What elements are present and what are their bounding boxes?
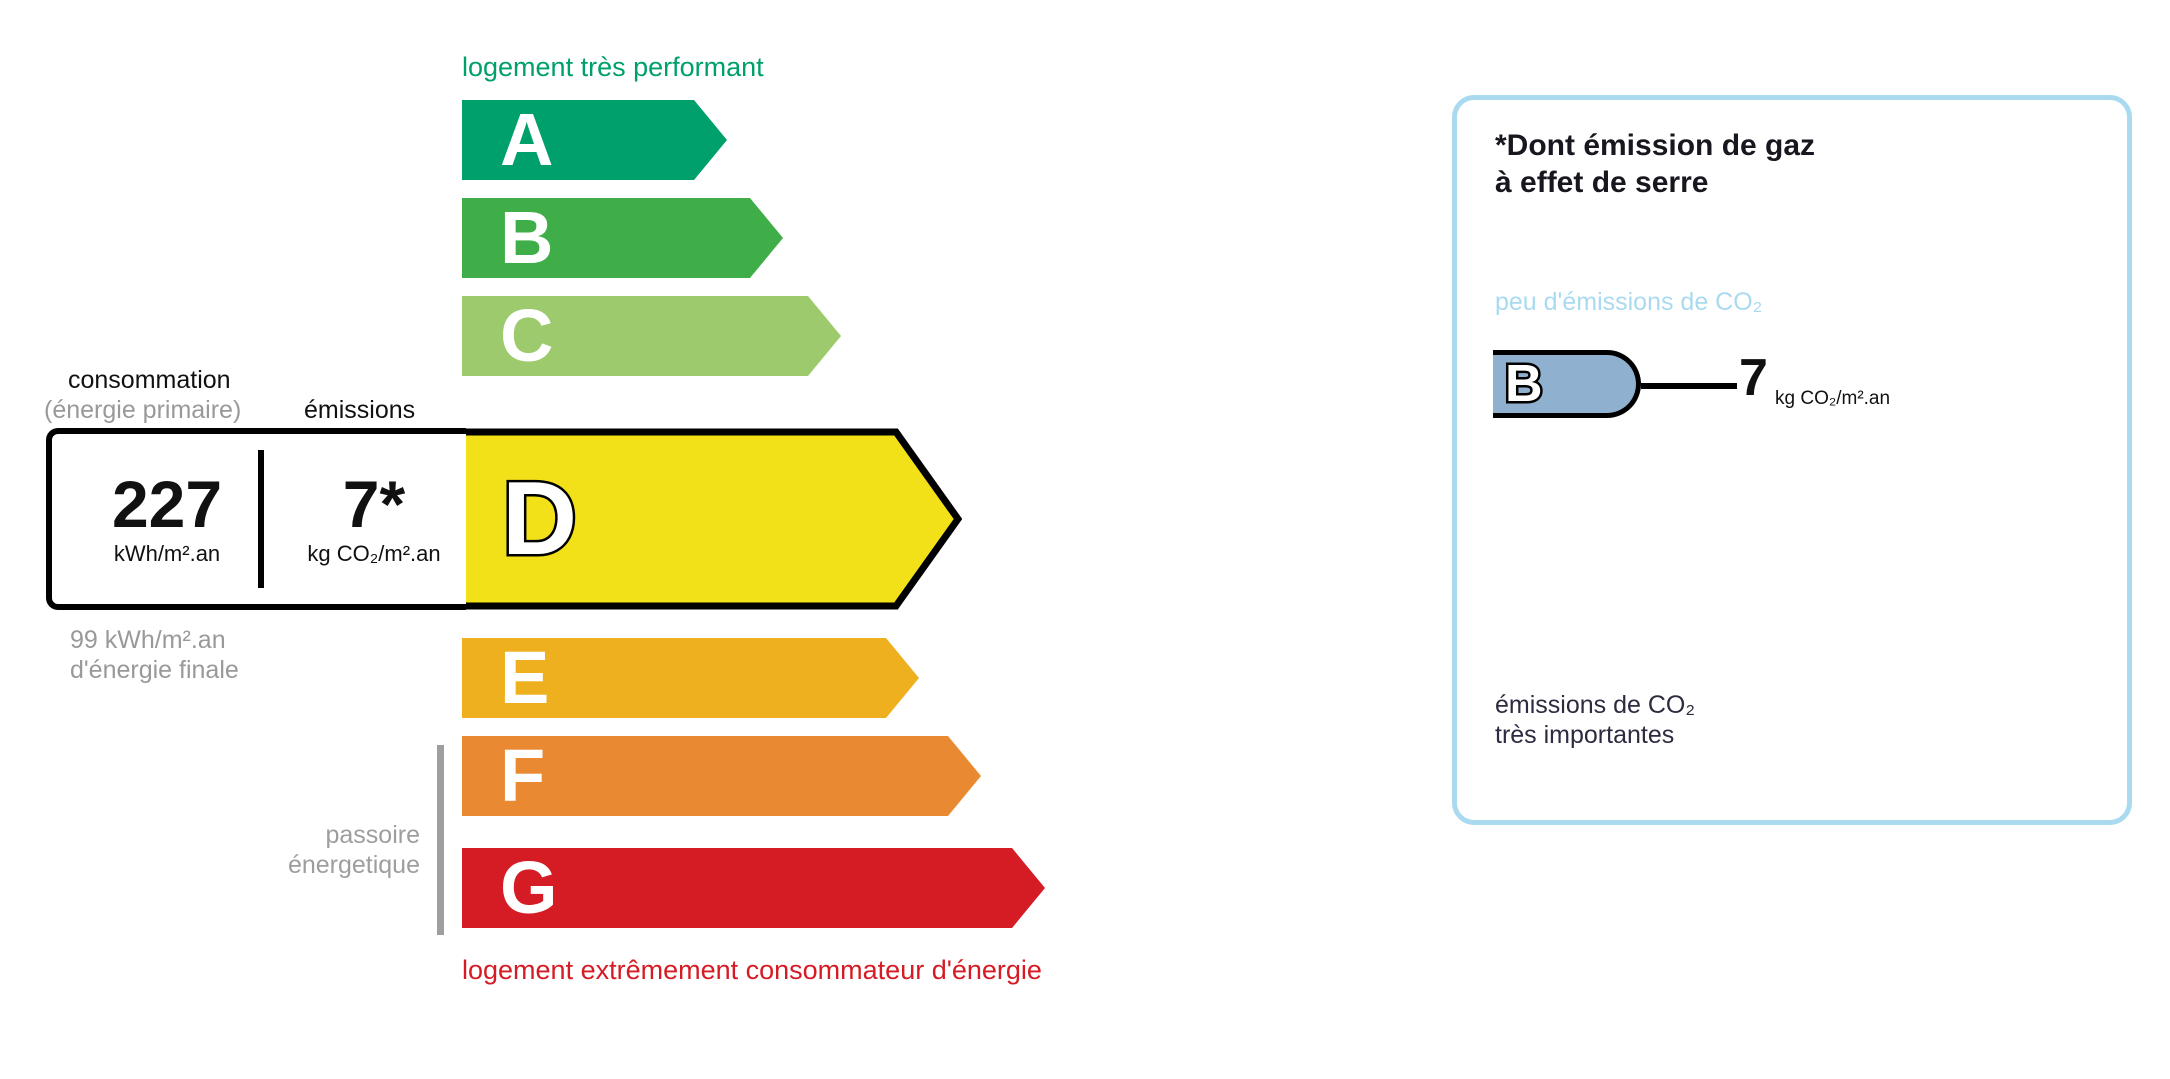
energy-class-letter-b: B	[500, 201, 553, 275]
co2-class-letter-a: A	[1505, 314, 1527, 344]
co2-class-row-e: E	[1495, 520, 1735, 554]
co2-class-letter-g: G	[1505, 614, 1528, 644]
co2-selected-class-row: B	[1493, 350, 1641, 418]
co2-class-letter-d: D	[1505, 476, 1527, 506]
co2-value-unit: kg CO₂/m².an	[1775, 388, 1890, 410]
consumption-label: consommation	[68, 366, 231, 395]
energy-performance-chart: logement très performant ABCEFG D consom…	[0, 0, 1400, 1079]
final-energy-note: 99 kWh/m².an d'énergie finale	[70, 626, 239, 685]
co2-class-row-f: F	[1495, 566, 1767, 600]
co2-bottom-line1: émissions de CO₂	[1495, 690, 1695, 720]
energy-class-letter-a: A	[500, 103, 553, 177]
value-box-divider	[258, 450, 264, 588]
consumption-value-cell: 227 kWh/m².an	[52, 434, 282, 604]
thermal-sieve-label: passoire énergetique	[180, 820, 420, 880]
selected-class-letter: D	[502, 467, 577, 571]
co2-class-row-g: G	[1495, 612, 1799, 646]
energy-class-letter-c: C	[500, 299, 553, 373]
co2-selected-class-letter: B	[1505, 358, 1543, 410]
value-readout-box: 227 kWh/m².an 7* kg CO₂/m².an	[46, 428, 466, 610]
energy-class-row-b: B	[462, 198, 783, 278]
emissions-label: émissions	[304, 396, 415, 425]
scale-bottom-caption: logement extrêmement consommateur d'éner…	[462, 955, 1042, 986]
energy-class-row-e: E	[462, 638, 919, 718]
energy-class-letter-g: G	[500, 851, 558, 925]
emissions-value-cell: 7* kg CO₂/m².an	[282, 434, 466, 604]
thermal-sieve-line2: énergetique	[180, 850, 420, 880]
co2-panel-title: *Dont émission de gaz à effet de serre	[1495, 128, 1815, 201]
co2-class-letter-f: F	[1505, 568, 1523, 598]
co2-class-row-c: C	[1495, 428, 1667, 462]
energy-class-row-c: C	[462, 296, 841, 376]
emissions-unit: kg CO₂/m².an	[307, 541, 440, 567]
co2-title-line1: *Dont émission de gaz	[1495, 128, 1815, 165]
final-energy-value: 99 kWh/m².an	[70, 626, 239, 656]
consumption-unit: kWh/m².an	[114, 541, 220, 567]
co2-value: 7	[1739, 352, 1768, 404]
energy-class-row-a: A	[462, 100, 727, 180]
co2-class-letter-c: C	[1505, 430, 1527, 460]
co2-emissions-panel: *Dont émission de gaz à effet de serre p…	[1452, 95, 2132, 825]
emissions-value: 7*	[343, 471, 405, 538]
energy-class-letter-e: E	[500, 641, 549, 715]
thermal-sieve-marker	[437, 745, 444, 935]
co2-bottom-caption: émissions de CO₂ très importantes	[1495, 690, 1695, 750]
scale-top-caption: logement très performant	[462, 52, 764, 83]
final-energy-caption: d'énergie finale	[70, 656, 239, 686]
energy-class-row-f: F	[462, 736, 981, 816]
co2-class-row-d: D	[1495, 474, 1699, 508]
co2-leader-line	[1641, 383, 1737, 389]
selected-energy-class-row: D	[462, 428, 962, 610]
co2-class-row-a: A	[1495, 312, 1603, 346]
energy-class-row-g: G	[462, 848, 1045, 928]
primary-energy-label: (énergie primaire)	[44, 396, 241, 425]
co2-class-letter-e: E	[1505, 522, 1525, 552]
thermal-sieve-line1: passoire	[180, 820, 420, 850]
co2-bottom-line2: très importantes	[1495, 720, 1695, 750]
energy-class-letter-f: F	[500, 739, 545, 813]
co2-title-line2: à effet de serre	[1495, 165, 1815, 202]
consumption-value: 227	[112, 471, 222, 538]
